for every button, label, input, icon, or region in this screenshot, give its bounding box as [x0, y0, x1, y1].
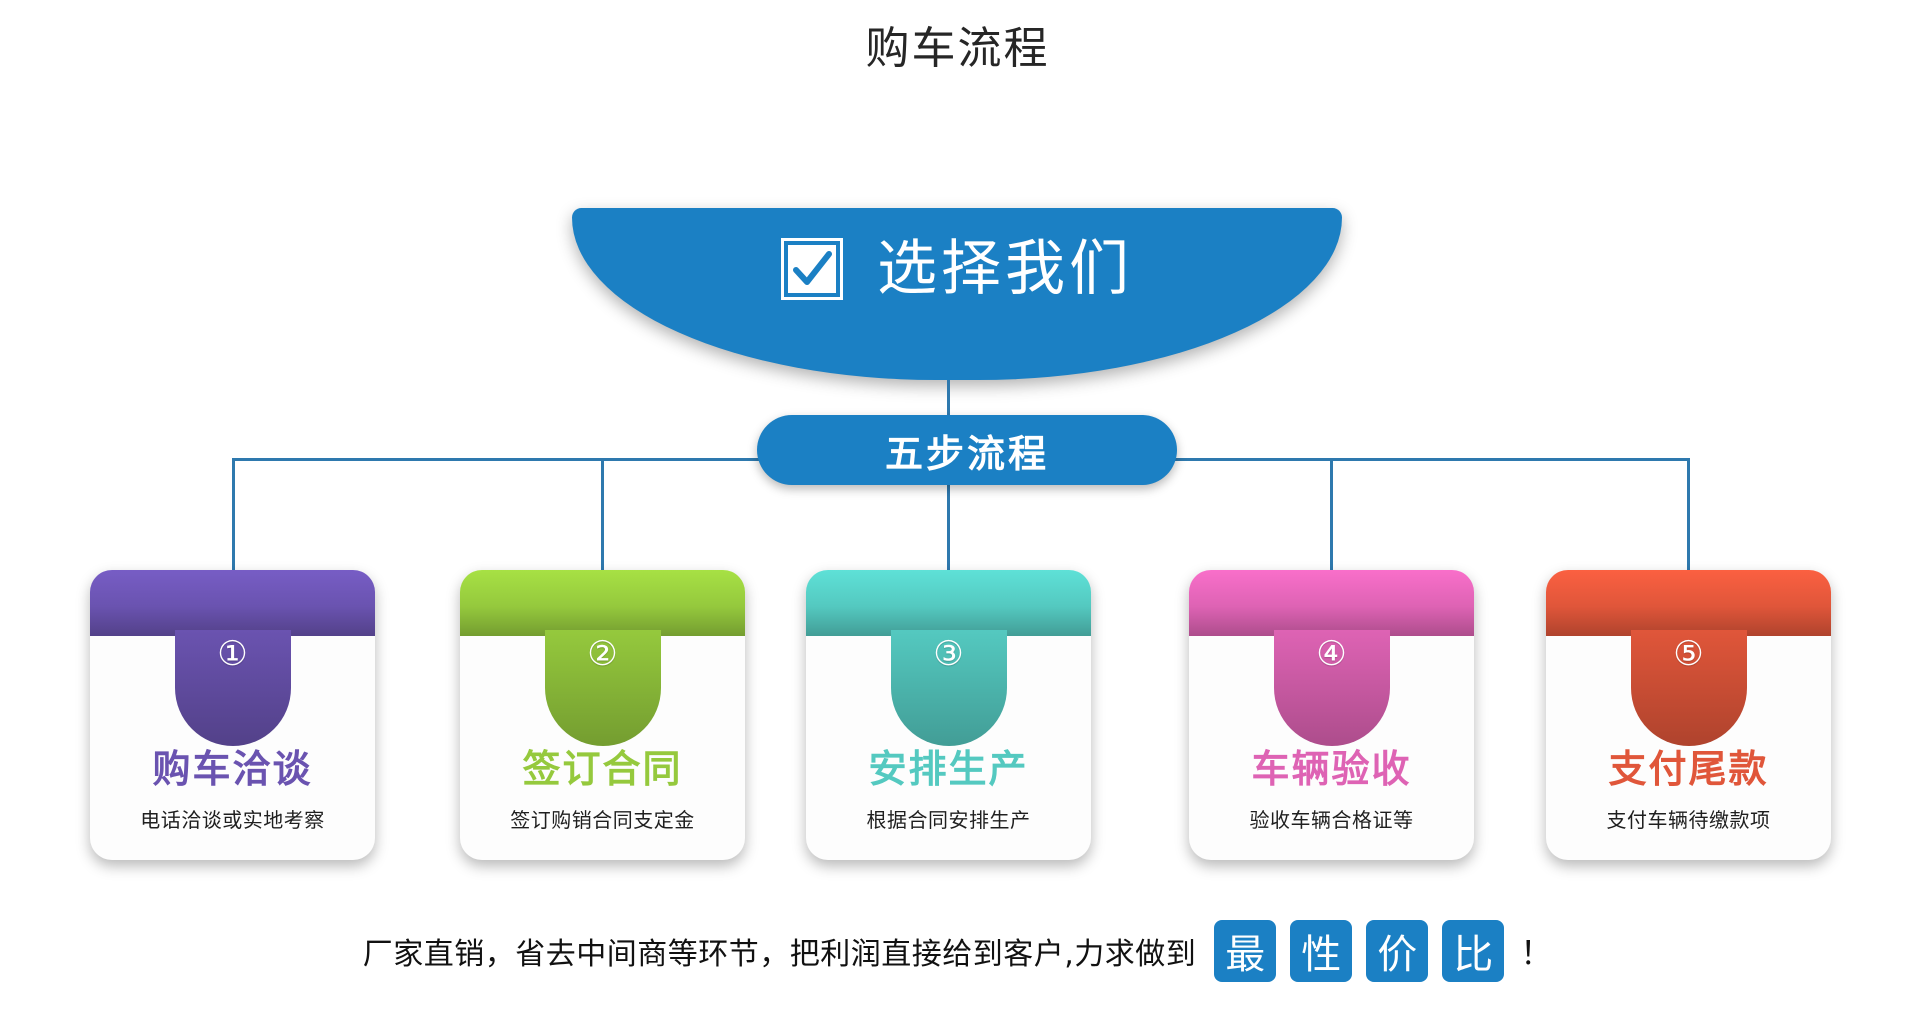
footer-highlight-char-1: 最: [1214, 920, 1276, 982]
hero-banner-content: 选择我们: [781, 238, 1133, 300]
step-card-1-header: [90, 570, 375, 636]
step-card-4-title: 车辆验收: [1189, 750, 1474, 790]
step-card-3-header: [806, 570, 1091, 636]
step-card-3-badge: ③: [891, 630, 1007, 746]
footer-highlight-char-2: 性: [1290, 920, 1352, 982]
step-card-3-number: ③: [933, 637, 963, 671]
step-card-5-title: 支付尾款: [1546, 750, 1831, 790]
step-card-4-subtitle: 验收车辆合格证等: [1189, 804, 1474, 833]
step-card-3-subtitle: 根据合同安排生产: [806, 804, 1091, 833]
page-title: 购车流程: [0, 12, 1915, 76]
step-card-4-number: ④: [1316, 637, 1346, 671]
step-card-1-title: 购车洽谈: [90, 750, 375, 790]
step-card-3-title: 安排生产: [806, 750, 1091, 790]
step-card-3-body: 安排生产 根据合同安排生产: [806, 750, 1091, 833]
process-pill: 五步流程: [757, 415, 1177, 485]
connector-drop-5: [1687, 458, 1690, 573]
step-card-4[interactable]: ④ 车辆验收 验收车辆合格证等: [1189, 570, 1474, 860]
step-card-1-number: ①: [217, 637, 247, 671]
step-card-3[interactable]: ③ 安排生产 根据合同安排生产: [806, 570, 1091, 860]
hero-banner: 选择我们: [572, 208, 1342, 380]
step-card-2[interactable]: ② 签订合同 签订购销合同支定金: [460, 570, 745, 860]
footer-highlight-group: 最 性 价 比: [1214, 920, 1504, 982]
footer-tagline-text: 厂家直销，省去中间商等环节，把利润直接给到客户,力求做到: [363, 929, 1197, 973]
step-card-5-number: ⑤: [1673, 637, 1703, 671]
footer-tagline: 厂家直销，省去中间商等环节，把利润直接给到客户,力求做到 最 性 价 比 ！: [0, 920, 1915, 982]
footer-highlight-char-4: 比: [1442, 920, 1504, 982]
step-card-4-badge: ④: [1274, 630, 1390, 746]
step-card-5[interactable]: ⑤ 支付尾款 支付车辆待缴款项: [1546, 570, 1831, 860]
slide-canvas: 购车流程 选择我们 五步流程 ① 购车洽谈 电话洽谈或实地考察: [0, 0, 1915, 1029]
footer-exclamation: ！: [1520, 928, 1552, 974]
step-card-1-body: 购车洽谈 电话洽谈或实地考察: [90, 750, 375, 833]
step-card-1[interactable]: ① 购车洽谈 电话洽谈或实地考察: [90, 570, 375, 860]
step-card-1-badge: ①: [175, 630, 291, 746]
step-card-5-badge: ⑤: [1631, 630, 1747, 746]
step-card-2-header: [460, 570, 745, 636]
step-card-2-number: ②: [587, 637, 617, 671]
footer-highlight-char-3: 价: [1366, 920, 1428, 982]
connector-drop-2: [601, 458, 604, 573]
step-card-2-body: 签订合同 签订购销合同支定金: [460, 750, 745, 833]
process-pill-label: 五步流程: [885, 423, 1049, 478]
step-card-2-title: 签订合同: [460, 750, 745, 790]
step-card-1-subtitle: 电话洽谈或实地考察: [90, 804, 375, 833]
step-card-5-subtitle: 支付车辆待缴款项: [1546, 804, 1831, 833]
step-card-2-badge: ②: [545, 630, 661, 746]
checkbox-checked-icon: [781, 238, 843, 300]
step-card-5-body: 支付尾款 支付车辆待缴款项: [1546, 750, 1831, 833]
step-card-4-body: 车辆验收 验收车辆合格证等: [1189, 750, 1474, 833]
step-card-5-header: [1546, 570, 1831, 636]
hero-banner-label: 选择我们: [877, 239, 1133, 299]
step-card-2-subtitle: 签订购销合同支定金: [460, 804, 745, 833]
step-card-4-header: [1189, 570, 1474, 636]
connector-drop-1: [232, 458, 235, 573]
connector-drop-4: [1330, 458, 1333, 573]
